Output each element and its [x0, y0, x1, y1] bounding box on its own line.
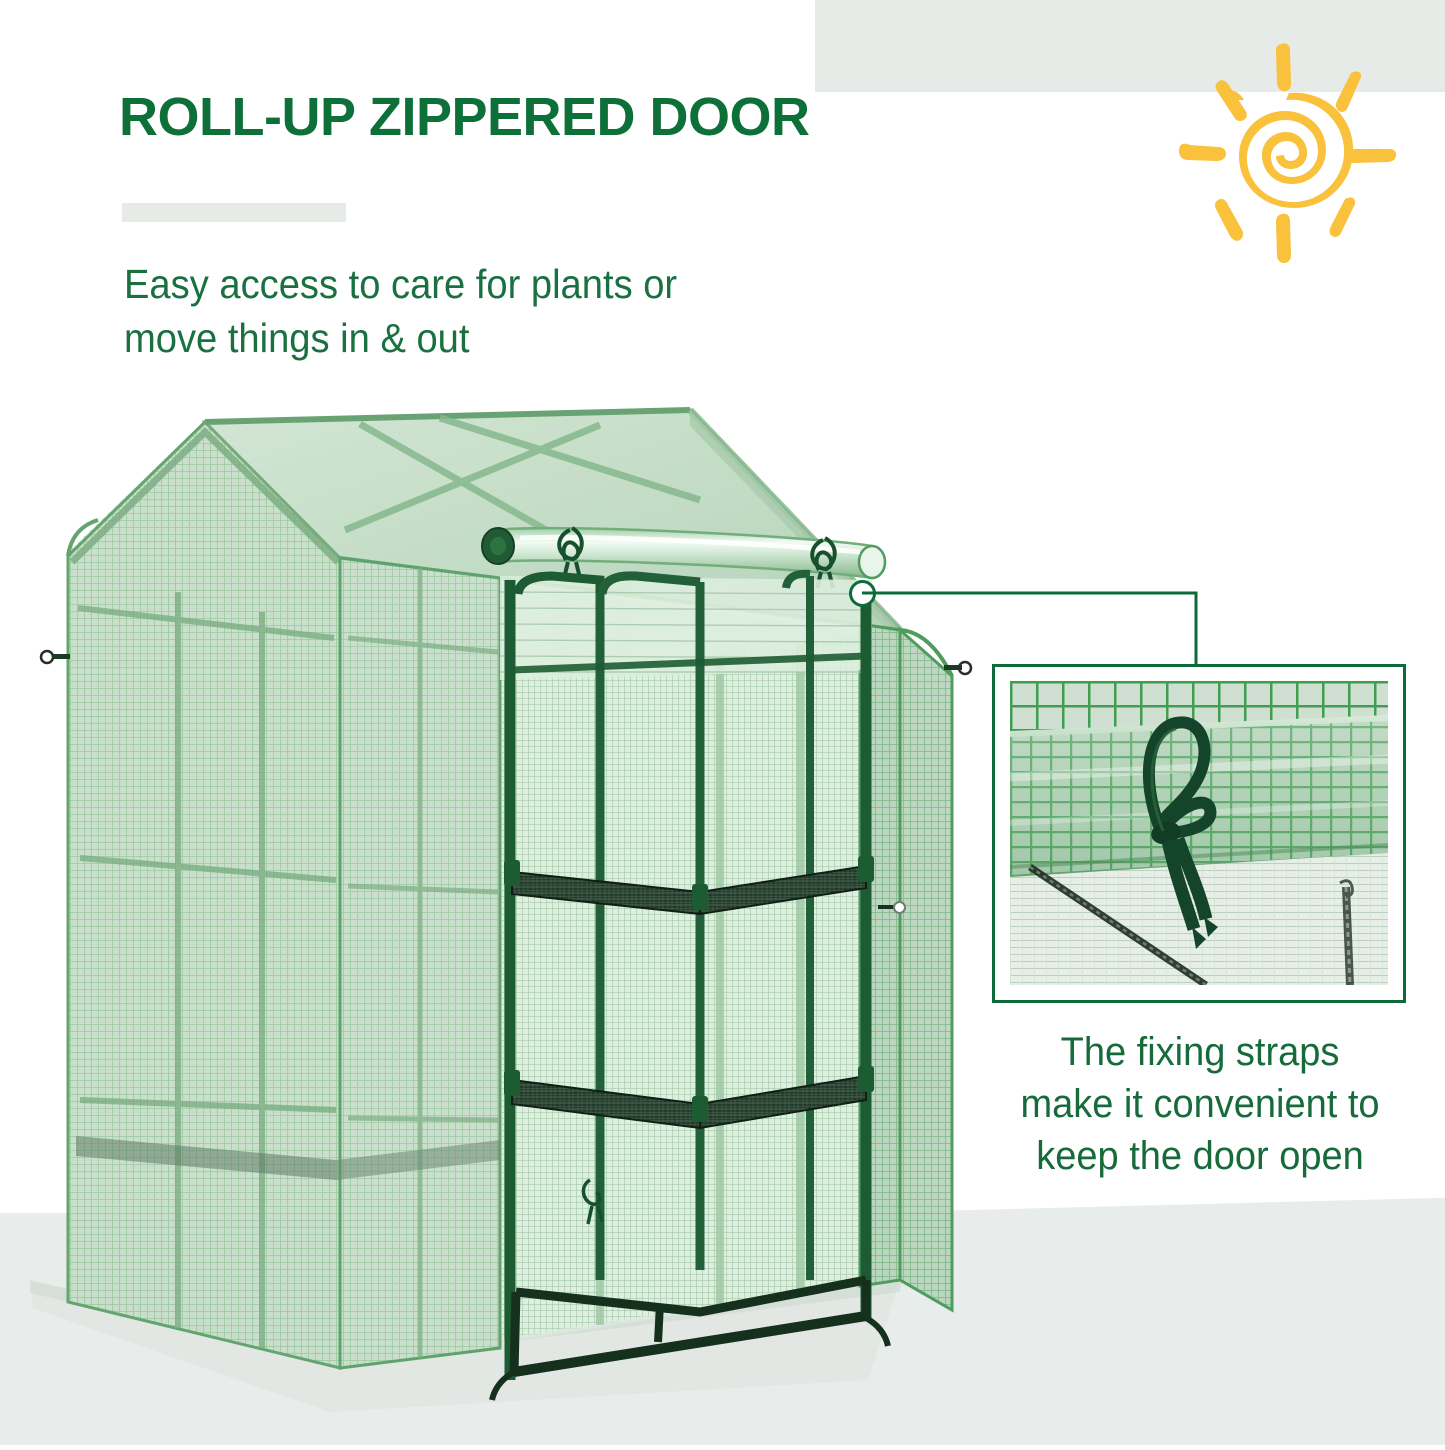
subtitle-line-2: move things in & out	[124, 311, 803, 365]
inset-caption-line-1: The fixing straps	[972, 1026, 1428, 1078]
subtitle-line-1: Easy access to care for plants or	[124, 257, 803, 311]
sun-spiral-icon	[1168, 38, 1398, 268]
marketing-image-canvas: ROLL-UP ZIPPERED DOOR Easy access to car…	[0, 0, 1445, 1445]
inset-caption-line-3: keep the door open	[972, 1130, 1428, 1182]
page-title: ROLL-UP ZIPPERED DOOR	[119, 86, 810, 148]
callout-secondary-dot	[893, 901, 906, 914]
right-side-wall	[900, 630, 971, 1310]
title-underline-bar	[122, 203, 346, 222]
inset-caption: The fixing straps make it convenient to …	[972, 1026, 1428, 1182]
subtitle: Easy access to care for plants or move t…	[124, 257, 803, 365]
fixing-strap-closeup-photo	[1010, 681, 1388, 985]
inset-caption-line-2: make it convenient to	[972, 1078, 1428, 1130]
left-gable-panel	[41, 422, 340, 1368]
interior-back-wall	[502, 636, 858, 1338]
cover-eyelet	[41, 651, 70, 663]
walk-in-greenhouse-product-image	[0, 380, 1010, 1450]
front-left-cover-flap	[340, 558, 500, 1368]
